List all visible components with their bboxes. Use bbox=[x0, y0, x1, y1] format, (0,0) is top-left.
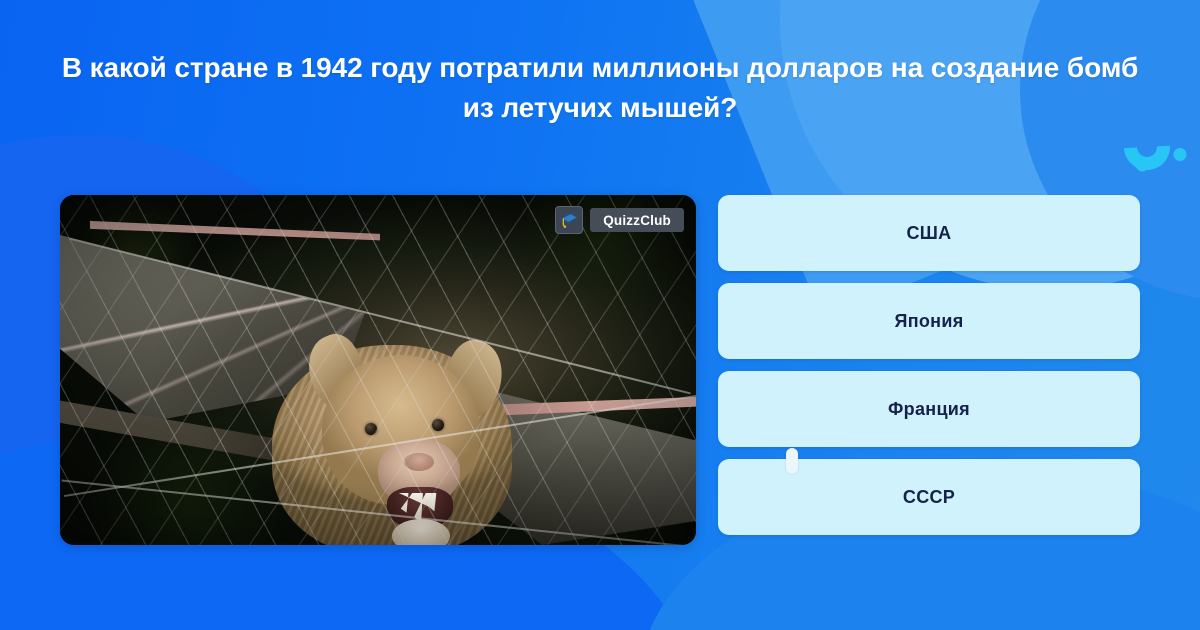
watermark-brand-label: QuizzClub bbox=[590, 208, 684, 232]
photo-vignette bbox=[60, 195, 696, 545]
answer-option-3-label: Франция bbox=[888, 399, 970, 420]
scrollbar-thumb[interactable] bbox=[786, 448, 798, 474]
answer-option-2[interactable]: Япония bbox=[718, 283, 1140, 359]
answer-option-3[interactable]: Франция bbox=[718, 371, 1140, 447]
question-image-card: QuizzClub bbox=[60, 195, 696, 545]
question-text: В какой стране в 1942 году потратили мил… bbox=[50, 48, 1150, 128]
answer-option-2-label: Япония bbox=[894, 311, 963, 332]
graduation-cap-icon bbox=[555, 206, 583, 234]
answer-option-1-label: США bbox=[907, 223, 952, 244]
answer-option-1[interactable]: США bbox=[718, 195, 1140, 271]
quizzclub-watermark: QuizzClub bbox=[555, 206, 684, 234]
answer-option-4[interactable]: СССР bbox=[718, 459, 1140, 535]
answer-list: США Япония Франция СССР bbox=[718, 195, 1140, 535]
answer-option-4-label: СССР bbox=[903, 487, 955, 508]
bat-photo bbox=[60, 195, 696, 545]
